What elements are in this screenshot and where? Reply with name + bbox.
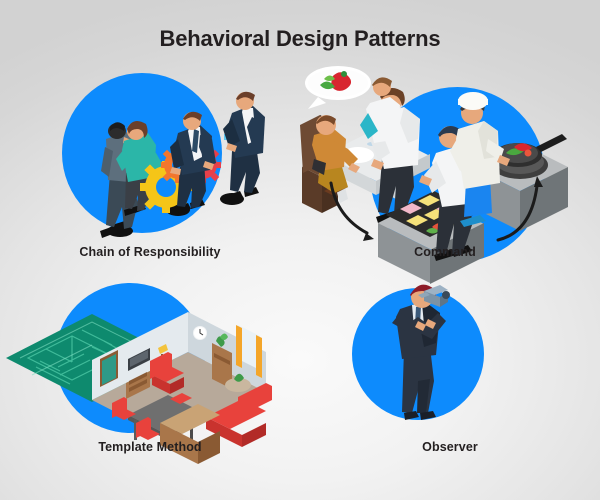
person-navy-suit-walking xyxy=(223,92,265,201)
pattern-card-command[interactable]: Command xyxy=(290,55,600,275)
pattern-label-chain-of-responsibility: Chain of Responsibility xyxy=(0,245,300,259)
curtain xyxy=(236,325,242,368)
pan-handle xyxy=(536,134,567,152)
person-observer-with-binoculars xyxy=(392,285,450,420)
pattern-label-observer: Observer xyxy=(300,440,600,454)
pattern-label-command: Command xyxy=(290,245,600,259)
curtain xyxy=(256,335,262,378)
observer-illustration xyxy=(300,275,600,455)
pattern-card-chain-of-responsibility[interactable]: Chain of Responsibility xyxy=(0,55,300,275)
infographic-canvas: Behavioral Design Patterns xyxy=(0,0,600,500)
thought-bubble xyxy=(305,66,371,109)
page-title: Behavioral Design Patterns xyxy=(0,26,600,52)
pattern-label-template-method: Template Method xyxy=(0,440,300,454)
pattern-card-observer[interactable]: Observer xyxy=(300,275,600,475)
template-method-illustration xyxy=(0,275,300,455)
chain-of-responsibility-illustration xyxy=(0,55,300,255)
pattern-card-template-method[interactable]: Template Method xyxy=(0,275,300,475)
arrowhead-left xyxy=(363,233,374,241)
command-illustration xyxy=(290,55,600,255)
